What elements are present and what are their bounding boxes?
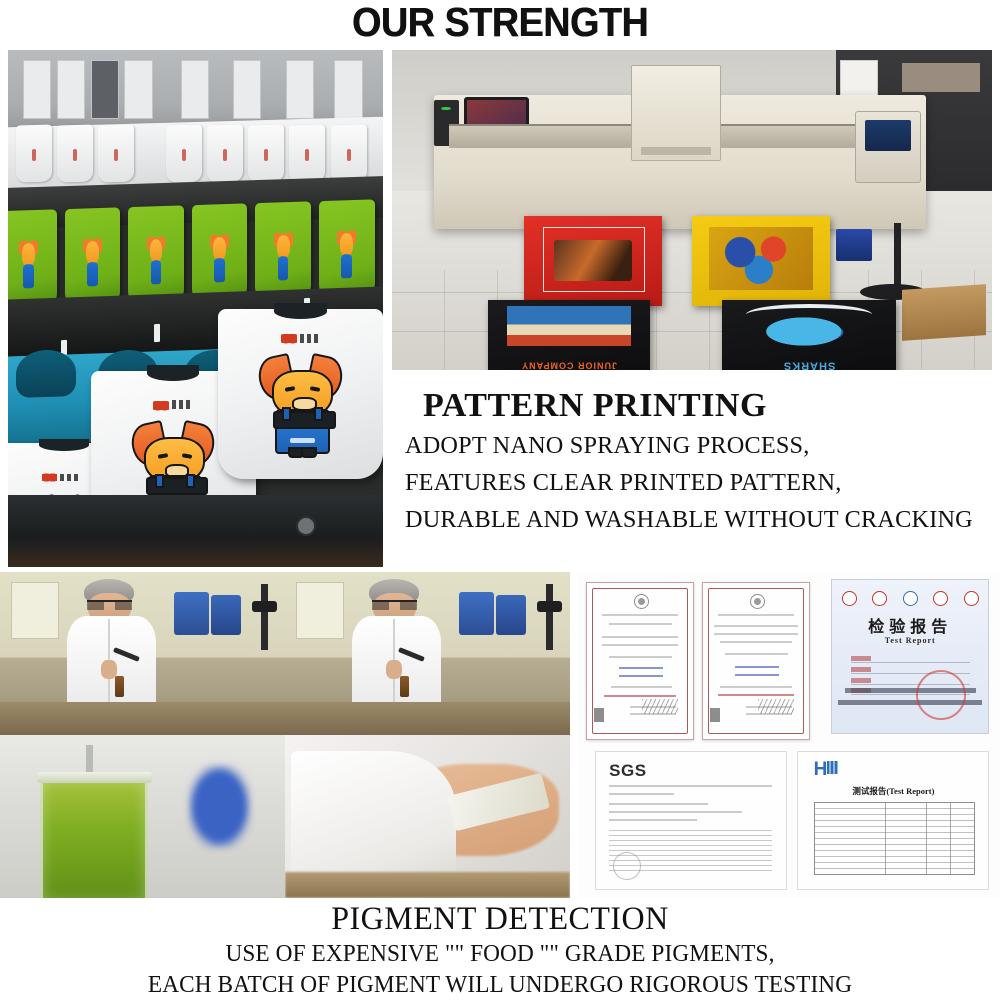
wall-sheet [286,60,314,119]
pattern-printing-heading: PATTERN PRINTING [405,385,1000,427]
ce-logo-icon [933,591,948,606]
pattern-printing-line-3: DURABLE AND WASHABLE WITHOUT CRACKING [405,501,994,538]
printer-body [434,95,926,229]
machine-base [8,495,383,567]
bull-mascot-print [261,356,340,455]
white-shirt [98,124,134,182]
green-shirt [319,199,375,299]
report-title-en: Test Report [832,636,988,645]
green-shirt [128,205,184,305]
shirt-print-label: SHARKS [736,353,882,370]
qs-logo-icon [964,591,979,606]
glasses-icon [87,600,133,610]
iso-certificate-2 [702,582,810,740]
qr-icon [594,708,604,722]
pigment-detection-line-2: EACH BATCH OF PIGMENT WILL UNDERGO RIGOR… [25,969,975,1000]
white-shirt [289,124,325,182]
h-report-title: 测试报告(Test Report) [798,785,988,797]
chest-logo [42,472,80,481]
lab-technician-left [0,572,285,735]
wall-sheet [233,60,261,119]
wall-sheet [334,60,362,119]
bull-mascot-print [19,236,38,291]
machine-knob [296,516,316,536]
cardboard-box [902,284,986,341]
h-test-report: H 测试报告(Test Report) [797,751,989,890]
beaker [40,777,149,898]
shelf [902,63,980,92]
printed-shirt-red [524,216,662,306]
ccc-logo-icon [842,591,857,606]
chest-logo [153,399,193,411]
sgs-report: SGS [595,751,787,890]
white-shirt [166,124,202,182]
blue-case [836,229,872,261]
printed-shirt-yellow [692,216,830,306]
bull-mascot-print [83,234,102,289]
white-shirt [57,124,93,182]
h-logo: H [814,759,828,781]
fabric-swatch-hands [285,735,570,898]
green-shirt [192,203,248,303]
pattern-printing-line-2: FEATURES CLEAR PRINTED PATTERN, [405,464,994,501]
lab-bench [0,702,285,735]
bull-mascot-print [273,228,292,283]
wall-sheet [124,60,152,119]
white-shirt [331,124,367,182]
glasses-icon [372,600,418,610]
green-pigment-beaker [0,735,285,898]
h-report-table [814,802,976,875]
dtg-flatbed-printer-photo: JUNIOR COMPANY SHARKS [392,50,992,370]
qr-icon [710,708,720,722]
lab-mixer [450,592,564,687]
wall-sheet [181,60,209,119]
green-shirt [255,201,311,301]
report-title-cn: 检验报告 [832,613,988,637]
screen-printing-carousel-photo [8,50,383,567]
sgs-stamp [613,852,641,880]
print-head-carriage [631,65,722,161]
lab-technician-right [285,572,570,735]
infographic-page: OUR STRENGTH [0,0,1000,1000]
pigment-detection-heading: PIGMENT DETECTION [15,900,985,938]
blue-platen [16,349,76,398]
green-shirt [64,207,120,307]
desk [285,872,570,898]
pigment-lab-photo-grid [0,572,570,898]
cqc-logo-icon [872,591,887,606]
white-shirt [207,124,243,182]
printed-shirt-sharks: SHARKS [722,300,896,370]
seal-icon [634,594,649,609]
lab-mixer [165,592,279,687]
wall-sheet [91,60,119,119]
platen-clip [154,324,160,342]
pigment-detection-line-1: USE OF EXPENSIVE "" FOOD "" GRADE PIGMEN… [25,938,975,969]
iso-certificate-1 [586,582,694,740]
stand-pole [894,223,901,293]
pigment-detection-text-block: PIGMENT DETECTION USE OF EXPENSIVE "" FO… [0,900,1000,1000]
white-shirt-foreground [218,309,383,480]
certification-logos [842,590,979,607]
lab-bench [285,702,570,735]
white-shirt [248,124,284,182]
control-panel-screen [865,120,911,151]
bull-mascot-print [146,232,165,287]
bull-mascot-print [210,230,229,285]
inspection-report: 检验报告 Test Report [831,579,989,734]
bull-mascot-print [337,226,356,281]
shirt-print-label: JUNIOR COMPANY [501,349,637,370]
pattern-printing-line-1: ADOPT NANO SPRAYING PROCESS, [405,427,994,464]
page-title: OUR STRENGTH [40,0,960,45]
chest-logo [281,332,321,344]
printer-control-panel[interactable] [855,111,921,183]
pattern-printing-text-block: PATTERN PRINTING ADOPT NANO SPRAYING PRO… [405,385,1000,538]
white-shirt [16,124,52,182]
green-shirt [8,209,56,309]
iso-logo-icon [903,591,918,606]
wall-sheet [57,60,85,119]
printed-shirt-junior-company: JUNIOR COMPANY [488,300,650,370]
wall-sheet [23,60,51,119]
certificates-photo: 检验报告 Test Report SGS H 测试报告(Test Report) [578,572,1000,898]
seal-icon [750,594,765,609]
sgs-logo: SGS [609,761,646,781]
red-seal-stamp [913,667,970,724]
